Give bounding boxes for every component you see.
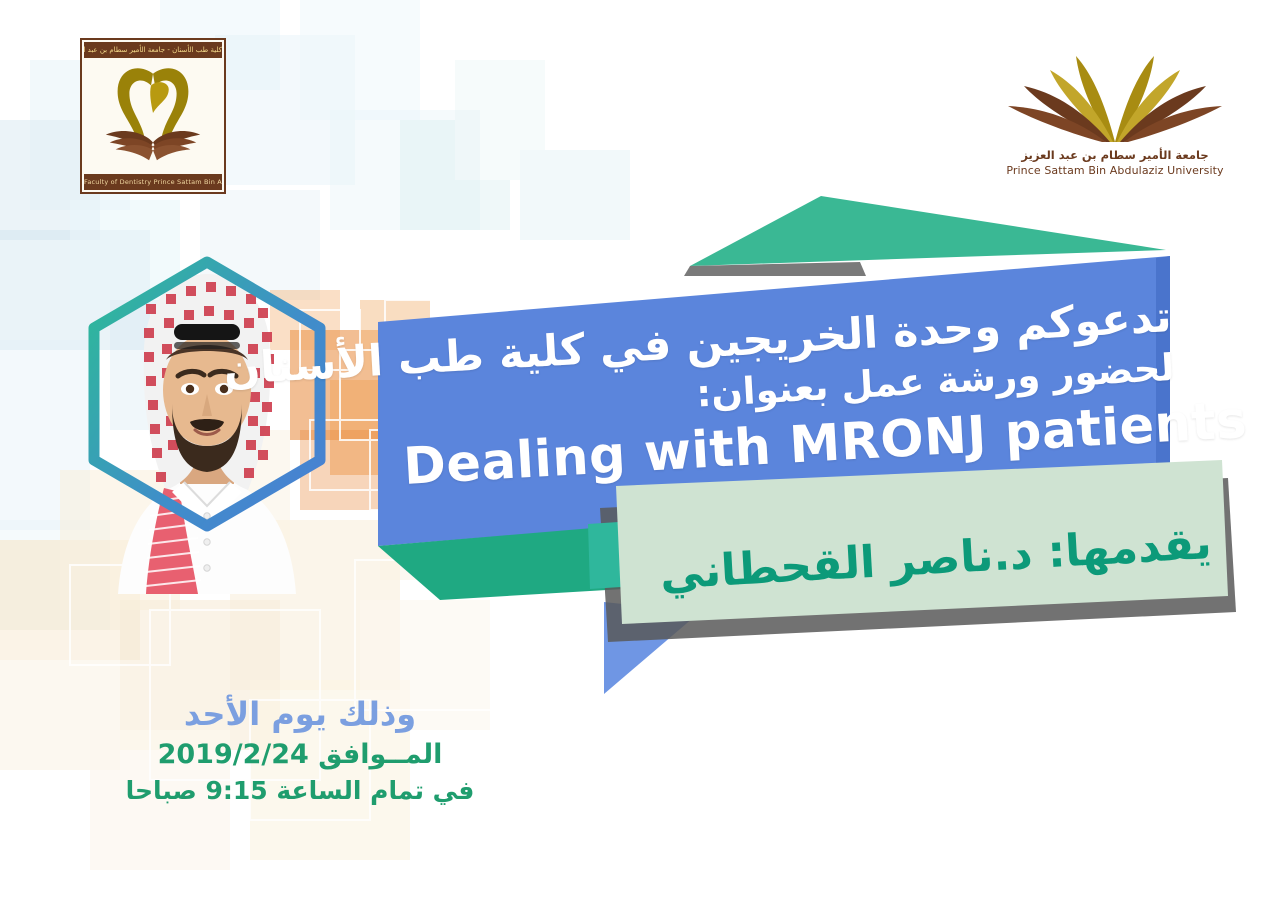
portrait-photo [118,274,296,594]
event-details-block: وذلك يوم الأحد المــوافق 2019/2/24 في تم… [60,694,540,808]
event-day: وذلك يوم الأحد [60,694,540,734]
speaker-portrait [52,244,362,594]
banner-fold-green [690,196,1166,266]
event-date: المــوافق 2019/2/24 [60,737,540,772]
portrait-hexagon-svg [52,244,362,594]
event-poster: كلية طب الأسنان - جامعة الأمير سطام بن ع… [0,0,1280,899]
event-time: في تمام الساعة 9:15 صباحا [60,775,540,808]
